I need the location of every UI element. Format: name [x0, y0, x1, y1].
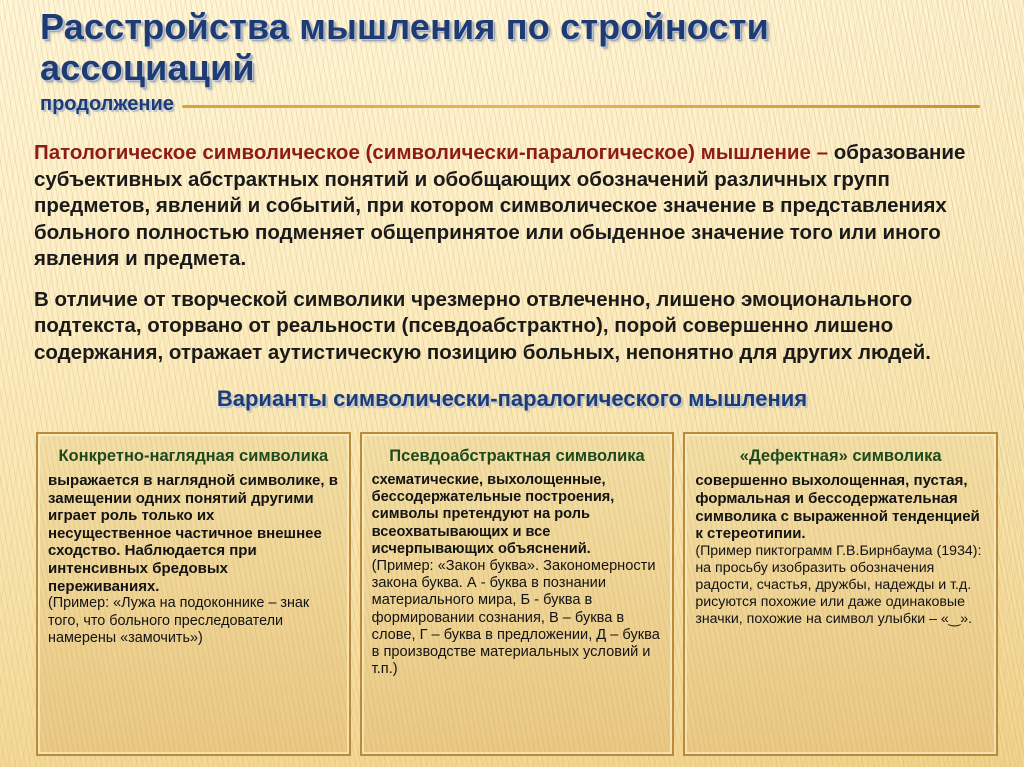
panel-pseudoabstract-symbolism: Псевдоабстрактная символика схематически… — [360, 432, 675, 756]
body-text: Патологическое символическое (символичес… — [34, 140, 994, 380]
title-block: Расстройства мышления по стройности ассо… — [40, 6, 980, 116]
definition-term: Патологическое символическое (символичес… — [34, 141, 834, 164]
panel-heading: «Дефектная» символика — [695, 446, 986, 466]
panel-example: (Пример: «Лужа на подоконнике – знак тог… — [48, 595, 339, 647]
subtitle-row: продолжение — [40, 93, 980, 116]
variants-panel-group: Конкретно-наглядная символика выражается… — [36, 432, 998, 756]
page-title: Расстройства мышления по стройности ассо… — [40, 6, 980, 88]
title-divider — [182, 105, 980, 108]
panel-defective-symbolism: «Дефектная» символика совершенно выхолощ… — [683, 432, 998, 756]
page-subtitle: продолжение — [40, 93, 174, 116]
slide-root: Расстройства мышления по стройности ассо… — [0, 0, 1024, 767]
panel-heading: Конкретно-наглядная символика — [48, 446, 339, 466]
panel-heading: Псевдоабстрактная символика — [372, 446, 663, 466]
section-heading: Варианты символически-паралогического мы… — [0, 386, 1024, 412]
paragraph-contrast: В отличие от творческой символики чрезме… — [34, 287, 994, 367]
panel-description: схематические, выхолощенные, бессодержат… — [372, 472, 663, 558]
page-title-line-1: Расстройства мышления по стройности — [40, 6, 769, 47]
page-title-line-2: ассоциаций — [40, 47, 255, 88]
panel-description: совершенно выхолощенная, пустая, формаль… — [695, 472, 986, 543]
paragraph-definition: Патологическое символическое (символичес… — [34, 140, 994, 273]
panel-example: (Пример: «Закон буква». Закономерности з… — [372, 558, 663, 678]
panel-concrete-visual-symbolism: Конкретно-наглядная символика выражается… — [36, 432, 351, 756]
panel-description: выражается в наглядной символике, в заме… — [48, 472, 339, 595]
panel-example: (Пример пиктограмм Г.В.Бирнбаума (1934):… — [695, 543, 986, 628]
